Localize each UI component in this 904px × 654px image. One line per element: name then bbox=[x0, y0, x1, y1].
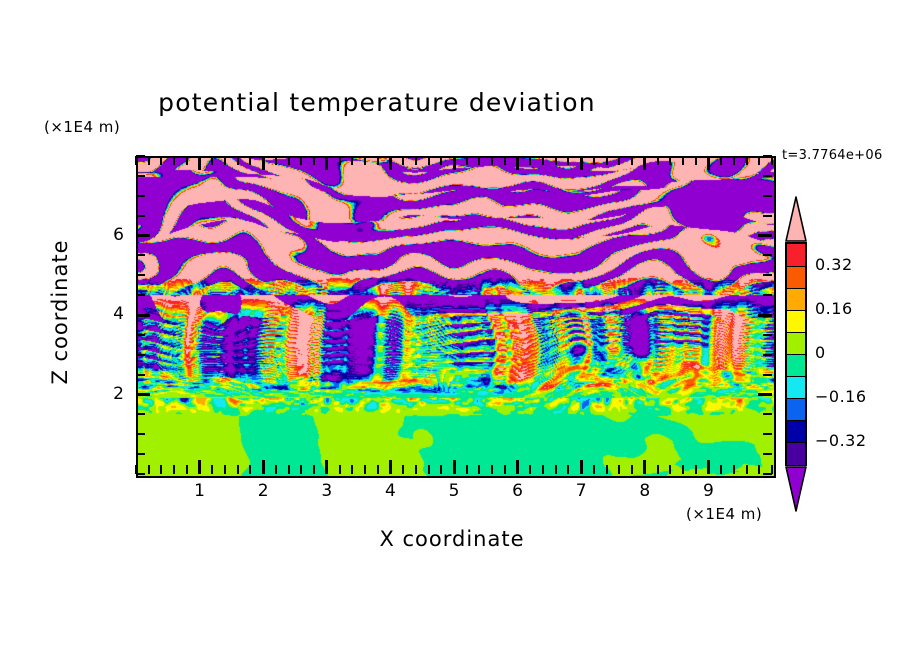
x-minor-tick bbox=[186, 156, 188, 165]
y-minor-tick bbox=[136, 195, 145, 197]
colorbar-tick-label: −0.16 bbox=[815, 387, 867, 406]
y-minor-tick bbox=[136, 473, 145, 475]
y-minor-tick bbox=[763, 354, 772, 356]
x-minor-tick bbox=[364, 465, 366, 474]
x-minor-tick bbox=[542, 156, 544, 165]
x-minor-tick bbox=[377, 156, 379, 165]
y-minor-tick bbox=[136, 155, 145, 157]
y-minor-tick bbox=[136, 274, 145, 276]
x-minor-tick bbox=[428, 465, 430, 474]
x-axis-unit-label: (×1E4 m) bbox=[686, 505, 762, 523]
colorbar-tick-label: 0.32 bbox=[815, 255, 853, 274]
colorbar-band bbox=[787, 244, 805, 266]
x-major-tick bbox=[707, 156, 710, 170]
x-minor-tick bbox=[288, 156, 290, 165]
x-minor-tick bbox=[249, 156, 251, 165]
x-minor-tick bbox=[440, 465, 442, 474]
x-minor-tick bbox=[237, 156, 239, 165]
x-major-tick bbox=[453, 460, 456, 474]
y-minor-tick bbox=[136, 294, 145, 296]
contour-plot-area bbox=[136, 156, 776, 478]
colorbar-band bbox=[787, 266, 805, 289]
x-minor-tick bbox=[313, 156, 315, 165]
x-major-tick bbox=[389, 460, 392, 474]
x-minor-tick bbox=[428, 156, 430, 165]
x-minor-tick bbox=[606, 156, 608, 165]
x-minor-tick bbox=[224, 465, 226, 474]
colorbar-band bbox=[787, 376, 805, 399]
x-minor-tick bbox=[415, 465, 417, 474]
x-minor-tick bbox=[504, 156, 506, 165]
y-minor-tick bbox=[763, 473, 772, 475]
x-minor-tick bbox=[478, 156, 480, 165]
x-major-tick bbox=[516, 156, 519, 170]
x-minor-tick bbox=[351, 465, 353, 474]
y-minor-tick bbox=[136, 453, 145, 455]
x-minor-tick bbox=[720, 156, 722, 165]
colorbar-tick-label: 0 bbox=[815, 343, 826, 362]
x-major-tick bbox=[325, 156, 328, 170]
x-minor-tick bbox=[695, 465, 697, 474]
colorbar bbox=[785, 242, 807, 466]
x-minor-tick bbox=[567, 465, 569, 474]
y-minor-tick bbox=[136, 413, 145, 415]
x-minor-tick bbox=[288, 465, 290, 474]
y-tick-label: 6 bbox=[96, 225, 124, 245]
y-minor-tick bbox=[763, 254, 772, 256]
x-minor-tick bbox=[160, 156, 162, 165]
colorbar-over-arrow bbox=[785, 196, 807, 242]
y-minor-tick bbox=[763, 175, 772, 177]
y-axis-unit-label: (×1E4 m) bbox=[44, 118, 120, 136]
x-minor-tick bbox=[733, 465, 735, 474]
y-minor-tick bbox=[136, 334, 145, 336]
x-minor-tick bbox=[351, 156, 353, 165]
x-major-tick bbox=[643, 156, 646, 170]
y-minor-tick bbox=[136, 254, 145, 256]
x-minor-tick bbox=[491, 156, 493, 165]
y-tick-label: 2 bbox=[96, 384, 124, 404]
x-tick-label: 3 bbox=[307, 481, 347, 501]
y-minor-tick bbox=[763, 374, 772, 376]
x-tick-label: 2 bbox=[243, 481, 283, 501]
y-minor-tick bbox=[763, 453, 772, 455]
x-minor-tick bbox=[135, 156, 137, 165]
y-minor-tick bbox=[763, 155, 772, 157]
x-minor-tick bbox=[491, 465, 493, 474]
x-minor-tick bbox=[682, 465, 684, 474]
y-minor-tick bbox=[763, 195, 772, 197]
x-minor-tick bbox=[402, 156, 404, 165]
x-minor-tick bbox=[593, 156, 595, 165]
x-minor-tick bbox=[300, 156, 302, 165]
y-minor-tick bbox=[136, 175, 145, 177]
x-minor-tick bbox=[669, 465, 671, 474]
x-minor-tick bbox=[339, 156, 341, 165]
y-major-tick bbox=[136, 393, 150, 396]
colorbar-tick-label: −0.32 bbox=[815, 431, 867, 450]
x-minor-tick bbox=[618, 465, 620, 474]
x-minor-tick bbox=[669, 156, 671, 165]
colorbar-band bbox=[787, 420, 805, 443]
x-minor-tick bbox=[771, 156, 773, 165]
x-minor-tick bbox=[275, 156, 277, 165]
x-minor-tick bbox=[733, 156, 735, 165]
x-minor-tick bbox=[657, 465, 659, 474]
x-minor-tick bbox=[758, 156, 760, 165]
y-major-tick bbox=[136, 234, 150, 237]
y-major-tick bbox=[758, 314, 772, 317]
x-minor-tick bbox=[631, 465, 633, 474]
x-major-tick bbox=[643, 460, 646, 474]
x-tick-label: 5 bbox=[434, 481, 474, 501]
y-minor-tick bbox=[136, 374, 145, 376]
figure-canvas: potential temperature deviation (×1E4 m)… bbox=[0, 0, 904, 654]
x-minor-tick bbox=[695, 156, 697, 165]
x-minor-tick bbox=[618, 156, 620, 165]
x-minor-tick bbox=[160, 465, 162, 474]
x-minor-tick bbox=[415, 156, 417, 165]
colorbar-band bbox=[787, 442, 805, 465]
timestamp-annotation: t=3.7764e+06 bbox=[782, 148, 883, 163]
colorbar-band bbox=[787, 288, 805, 311]
x-minor-tick bbox=[746, 156, 748, 165]
y-minor-tick bbox=[136, 433, 145, 435]
y-major-tick bbox=[758, 393, 772, 396]
y-minor-tick bbox=[136, 215, 145, 217]
y-minor-tick bbox=[763, 433, 772, 435]
x-minor-tick bbox=[466, 156, 468, 165]
x-minor-tick bbox=[440, 156, 442, 165]
colorbar-band bbox=[787, 354, 805, 377]
x-minor-tick bbox=[758, 465, 760, 474]
colorbar-band bbox=[787, 310, 805, 333]
x-major-tick bbox=[262, 460, 265, 474]
x-minor-tick bbox=[224, 156, 226, 165]
y-minor-tick bbox=[136, 354, 145, 356]
x-major-tick bbox=[262, 156, 265, 170]
x-minor-tick bbox=[631, 156, 633, 165]
y-minor-tick bbox=[763, 334, 772, 336]
x-minor-tick bbox=[148, 465, 150, 474]
x-minor-tick bbox=[466, 465, 468, 474]
x-minor-tick bbox=[720, 465, 722, 474]
x-minor-tick bbox=[542, 465, 544, 474]
x-major-tick bbox=[198, 156, 201, 170]
x-minor-tick bbox=[173, 156, 175, 165]
x-major-tick bbox=[580, 460, 583, 474]
x-tick-label: 8 bbox=[625, 481, 665, 501]
colorbar-tick-label: 0.16 bbox=[815, 299, 853, 318]
x-minor-tick bbox=[313, 465, 315, 474]
x-minor-tick bbox=[300, 465, 302, 474]
x-minor-tick bbox=[567, 156, 569, 165]
x-minor-tick bbox=[555, 156, 557, 165]
y-major-tick bbox=[136, 314, 150, 317]
x-minor-tick bbox=[173, 465, 175, 474]
y-axis-title: Z coordinate bbox=[48, 212, 72, 412]
x-tick-label: 4 bbox=[370, 481, 410, 501]
x-tick-label: 6 bbox=[498, 481, 538, 501]
x-minor-tick bbox=[746, 465, 748, 474]
colorbar-band bbox=[787, 332, 805, 355]
x-minor-tick bbox=[478, 465, 480, 474]
x-major-tick bbox=[707, 460, 710, 474]
x-tick-label: 7 bbox=[561, 481, 601, 501]
x-minor-tick bbox=[237, 465, 239, 474]
x-minor-tick bbox=[529, 156, 531, 165]
x-minor-tick bbox=[211, 465, 213, 474]
x-major-tick bbox=[580, 156, 583, 170]
y-tick-label: 4 bbox=[96, 304, 124, 324]
x-minor-tick bbox=[529, 465, 531, 474]
y-minor-tick bbox=[763, 215, 772, 217]
colorbar-under-arrow bbox=[785, 466, 807, 512]
x-minor-tick bbox=[402, 465, 404, 474]
x-minor-tick bbox=[657, 156, 659, 165]
contour-field bbox=[138, 158, 774, 476]
x-minor-tick bbox=[339, 465, 341, 474]
y-minor-tick bbox=[763, 413, 772, 415]
y-minor-tick bbox=[763, 274, 772, 276]
x-minor-tick bbox=[555, 465, 557, 474]
x-minor-tick bbox=[148, 156, 150, 165]
chart-title: potential temperature deviation bbox=[0, 88, 904, 117]
x-tick-label: 1 bbox=[180, 481, 220, 501]
x-minor-tick bbox=[682, 156, 684, 165]
x-major-tick bbox=[325, 460, 328, 474]
colorbar-band bbox=[787, 398, 805, 421]
x-major-tick bbox=[516, 460, 519, 474]
x-axis-title: X coordinate bbox=[0, 527, 904, 551]
x-minor-tick bbox=[186, 465, 188, 474]
x-minor-tick bbox=[364, 156, 366, 165]
x-minor-tick bbox=[377, 465, 379, 474]
x-minor-tick bbox=[211, 156, 213, 165]
y-major-tick bbox=[758, 234, 772, 237]
x-minor-tick bbox=[504, 465, 506, 474]
x-major-tick bbox=[389, 156, 392, 170]
x-major-tick bbox=[453, 156, 456, 170]
x-major-tick bbox=[198, 460, 201, 474]
x-minor-tick bbox=[593, 465, 595, 474]
x-minor-tick bbox=[275, 465, 277, 474]
y-minor-tick bbox=[763, 294, 772, 296]
x-tick-label: 9 bbox=[688, 481, 728, 501]
x-minor-tick bbox=[249, 465, 251, 474]
x-minor-tick bbox=[606, 465, 608, 474]
